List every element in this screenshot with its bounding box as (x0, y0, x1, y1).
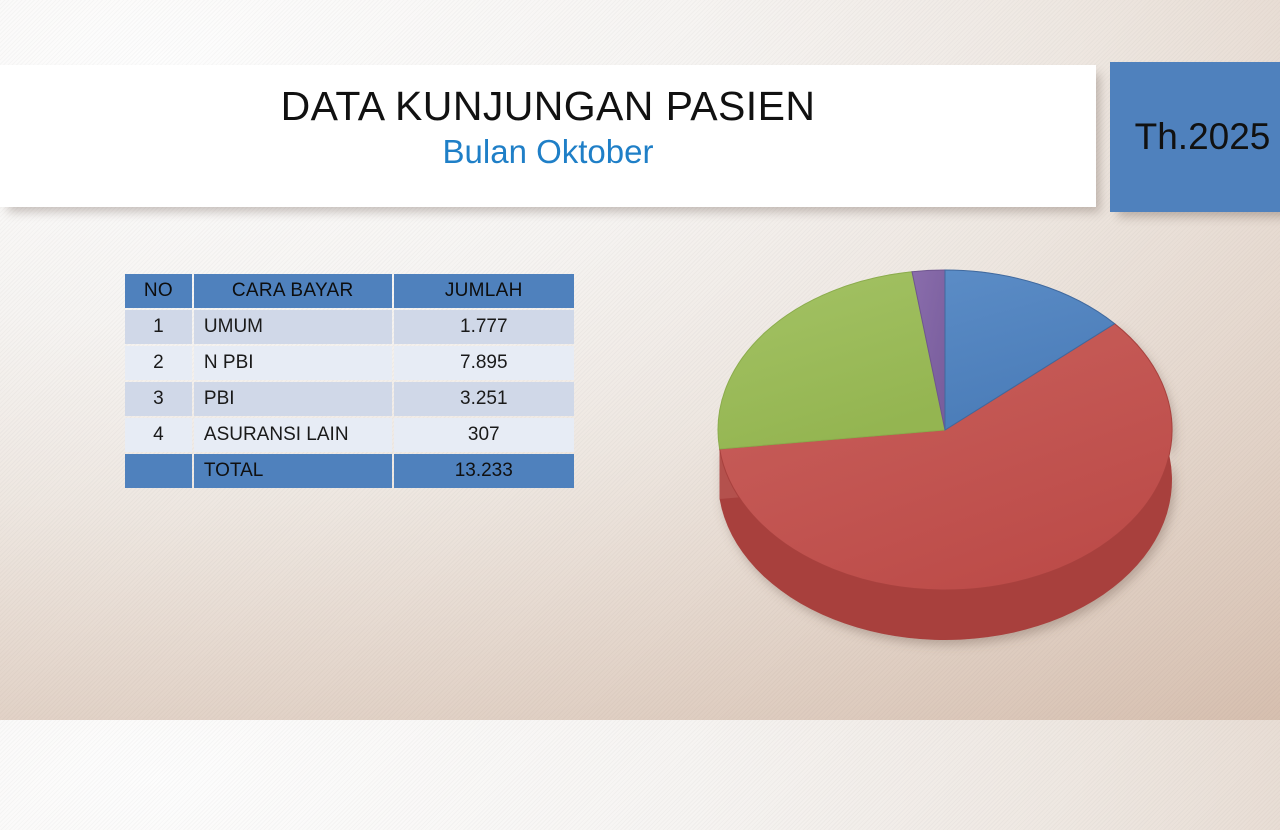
cell-jumlah: 3.251 (394, 382, 574, 416)
cell-total-no (125, 454, 192, 488)
table-row: 3 PBI 3.251 (125, 382, 574, 416)
table-row: 4 ASURANSI LAIN 307 (125, 418, 574, 452)
cell-jumlah: 1.777 (394, 310, 574, 344)
page-subtitle: Bulan Oktober (0, 133, 1096, 171)
table-row: 1 UMUM 1.777 (125, 310, 574, 344)
cell-total-label: TOTAL (194, 454, 392, 488)
column-header-cara-bayar: CARA BAYAR (194, 274, 392, 308)
table-row: 2 N PBI 7.895 (125, 346, 574, 380)
cell-jumlah: 307 (394, 418, 574, 452)
payment-summary-table: NO CARA BAYAR JUMLAH 1 UMUM 1.777 2 N PB… (123, 272, 576, 490)
year-badge: Th.2025 (1110, 62, 1280, 212)
cell-cara-bayar: PBI (194, 382, 392, 416)
pie-chart: UMUM 13.45% ASURANSI LAIN 2.32% PBI 24.5… (690, 245, 1210, 675)
column-header-no: NO (125, 274, 192, 308)
pie-chart-svg (690, 245, 1210, 675)
cell-no: 1 (125, 310, 192, 344)
page-title: DATA KUNJUNGAN PASIEN (0, 83, 1096, 130)
title-banner: DATA KUNJUNGAN PASIEN Bulan Oktober (0, 65, 1096, 207)
pie-slice-pbi (718, 272, 945, 449)
cell-jumlah: 7.895 (394, 346, 574, 380)
cell-cara-bayar: UMUM (194, 310, 392, 344)
cell-no: 2 (125, 346, 192, 380)
cell-cara-bayar: N PBI (194, 346, 392, 380)
table-total-row: TOTAL 13.233 (125, 454, 574, 488)
year-badge-label: Th.2025 (1135, 116, 1271, 158)
column-header-jumlah: JUMLAH (394, 274, 574, 308)
cell-total-jumlah: 13.233 (394, 454, 574, 488)
table-header-row: NO CARA BAYAR JUMLAH (125, 274, 574, 308)
cell-cara-bayar: ASURANSI LAIN (194, 418, 392, 452)
cell-no: 3 (125, 382, 192, 416)
cell-no: 4 (125, 418, 192, 452)
